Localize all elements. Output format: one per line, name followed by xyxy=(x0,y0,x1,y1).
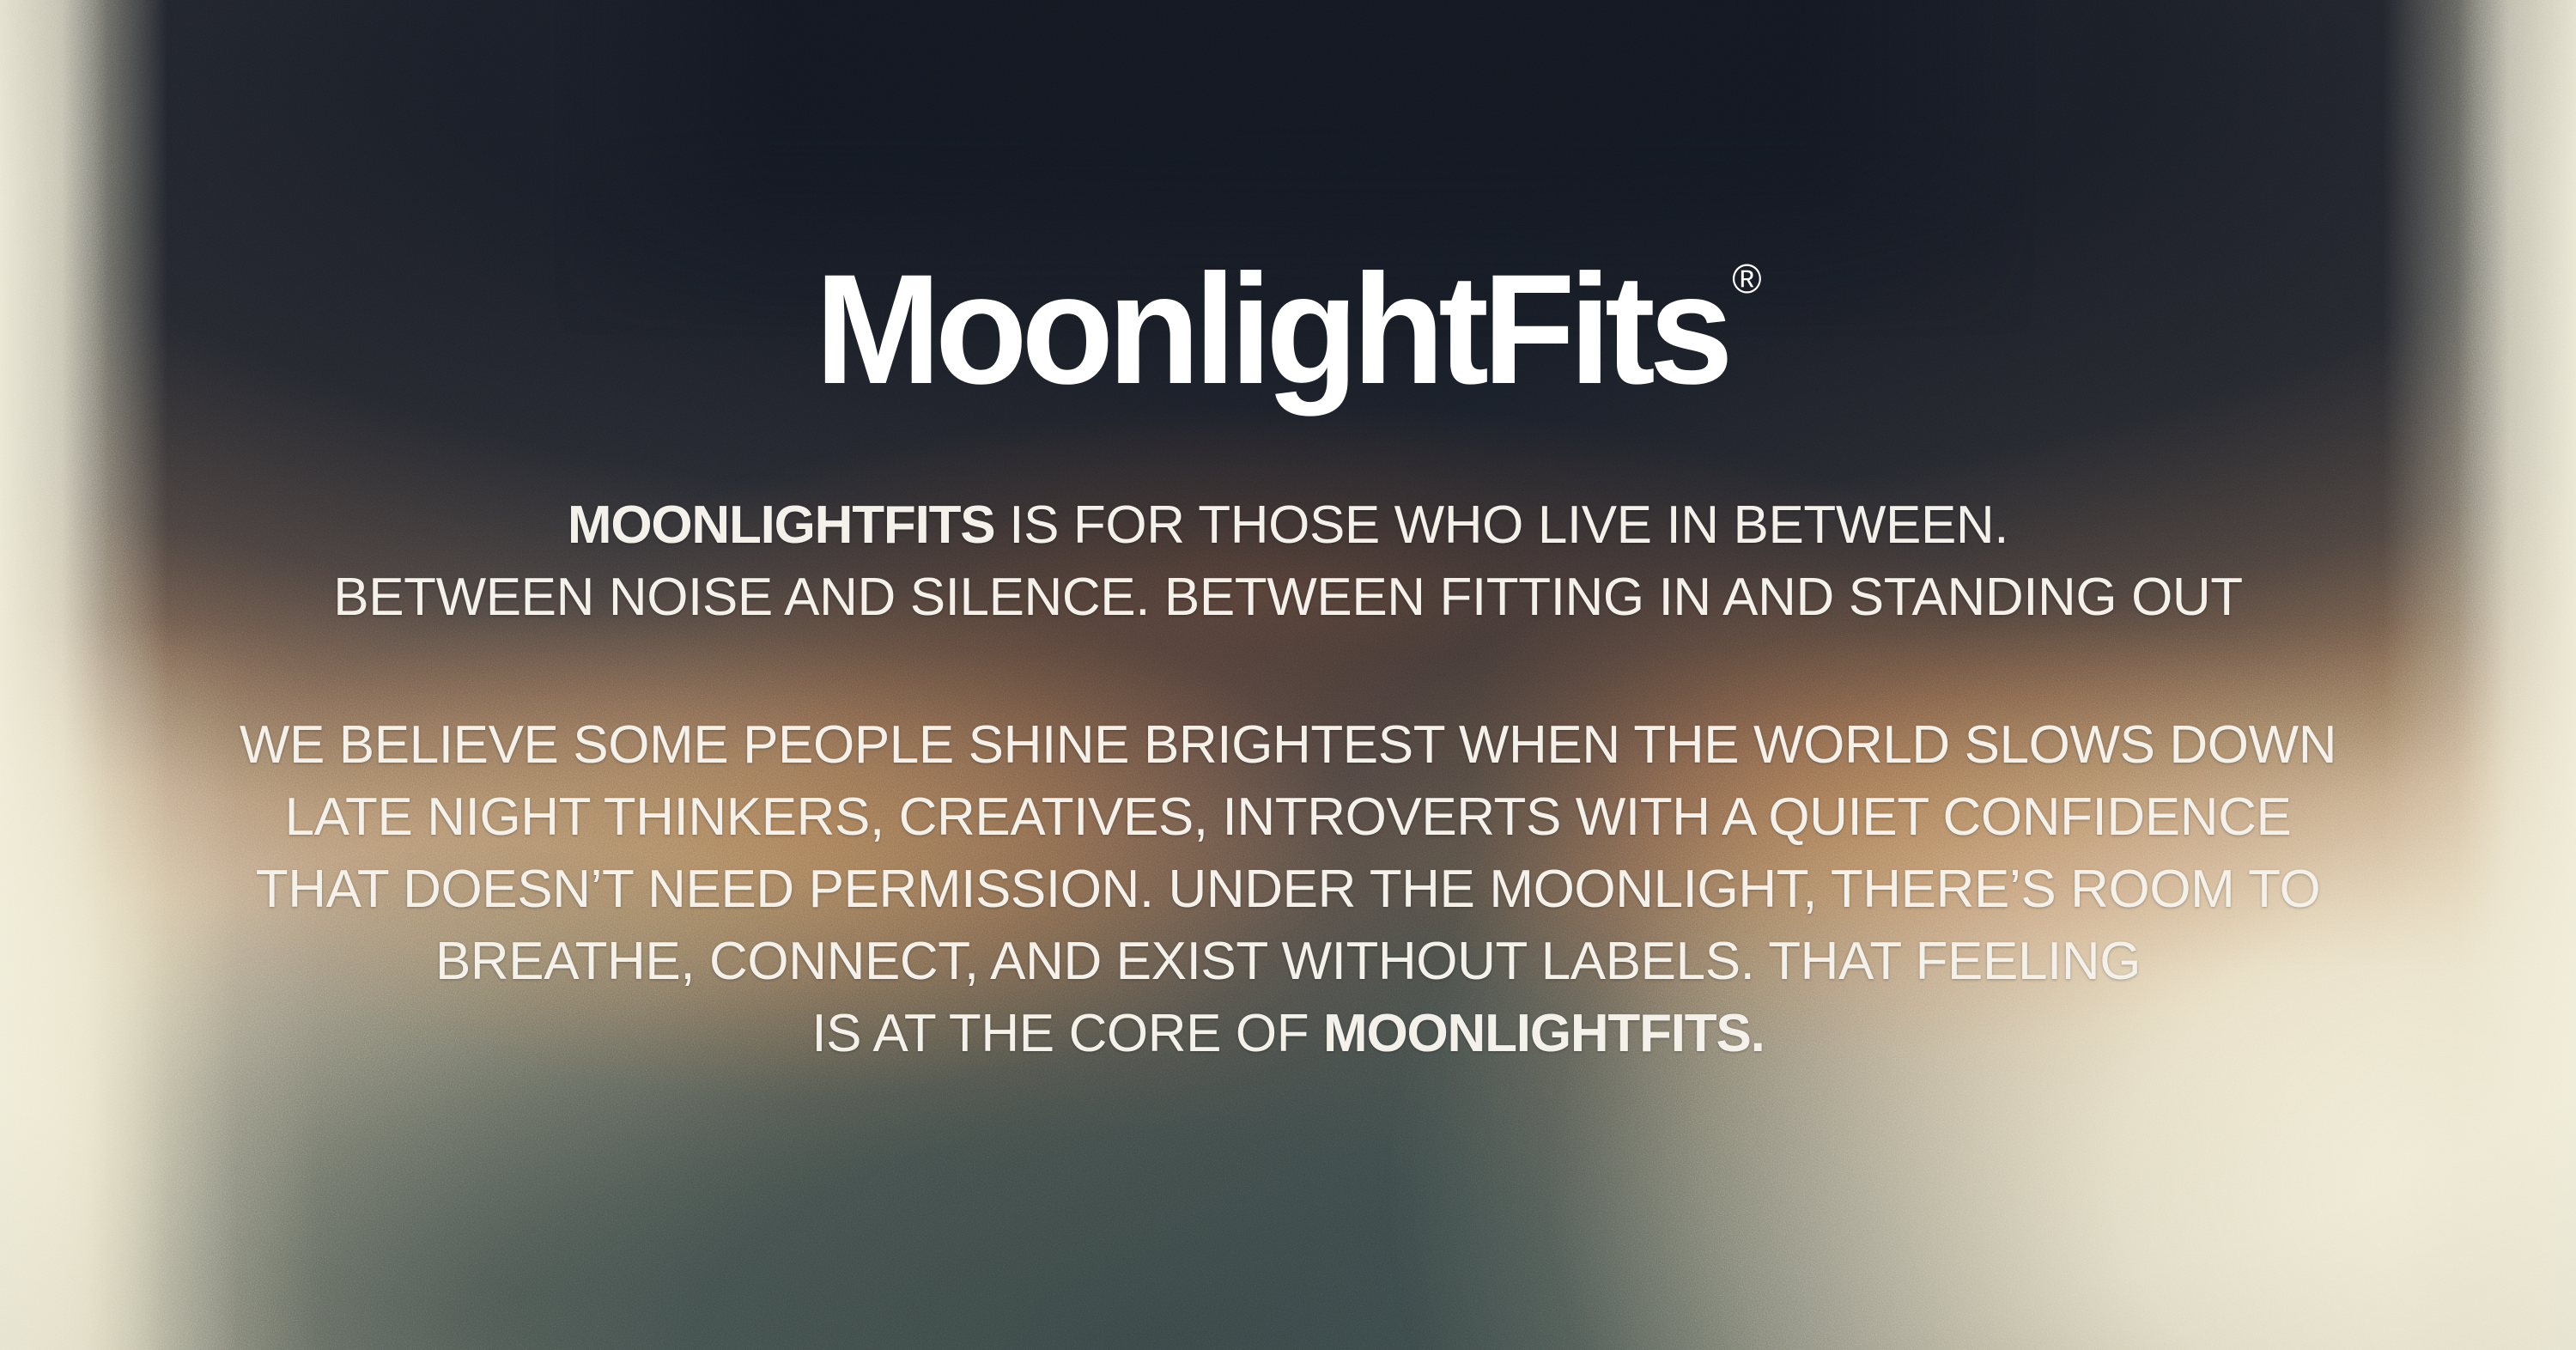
manifesto-line: MOONLIGHTFITS IS FOR THOSE WHO LIVE IN B… xyxy=(0,490,2576,562)
manifesto-paragraph-1: MOONLIGHTFITS IS FOR THOSE WHO LIVE IN B… xyxy=(0,490,2576,634)
brand-manifesto-copy: MOONLIGHTFITS IS FOR THOSE WHO LIVE IN B… xyxy=(0,490,2576,1070)
manifesto-line-text: IS FOR THOSE WHO LIVE IN BETWEEN. xyxy=(994,496,2008,555)
manifesto-line: BREATHE, CONNECT, AND EXIST WITHOUT LABE… xyxy=(0,926,2576,998)
manifesto-line: IS AT THE CORE OF MOONLIGHTFITS. xyxy=(0,998,2576,1070)
manifesto-line: LATE NIGHT THINKERS, CREATIVES, INTROVER… xyxy=(0,781,2576,854)
inline-brand-name: MOONLIGHTFITS. xyxy=(1323,1004,1765,1063)
manifesto-line: BETWEEN NOISE AND SILENCE. BETWEEN FITTI… xyxy=(0,562,2576,634)
manifesto-line: WE BELIEVE SOME PEOPLE SHINE BRIGHTEST W… xyxy=(0,709,2576,781)
brand-hero-banner: MoonlightFits® MOONLIGHTFITS IS FOR THOS… xyxy=(0,0,2576,1350)
hero-content: MoonlightFits® MOONLIGHTFITS IS FOR THOS… xyxy=(0,0,2576,1350)
paragraph-spacer xyxy=(0,634,2576,709)
manifesto-line: THAT DOESN’T NEED PERMISSION. UNDER THE … xyxy=(0,854,2576,926)
brand-wordmark-text: MoonlightFits xyxy=(815,251,1727,407)
manifesto-paragraph-2: WE BELIEVE SOME PEOPLE SHINE BRIGHTEST W… xyxy=(0,709,2576,1070)
manifesto-line-text: IS AT THE CORE OF xyxy=(811,1004,1323,1063)
brand-wordmark: MoonlightFits® xyxy=(815,251,1762,407)
inline-brand-name: MOONLIGHTFITS xyxy=(568,496,995,555)
registered-trademark-icon: ® xyxy=(1732,259,1761,301)
